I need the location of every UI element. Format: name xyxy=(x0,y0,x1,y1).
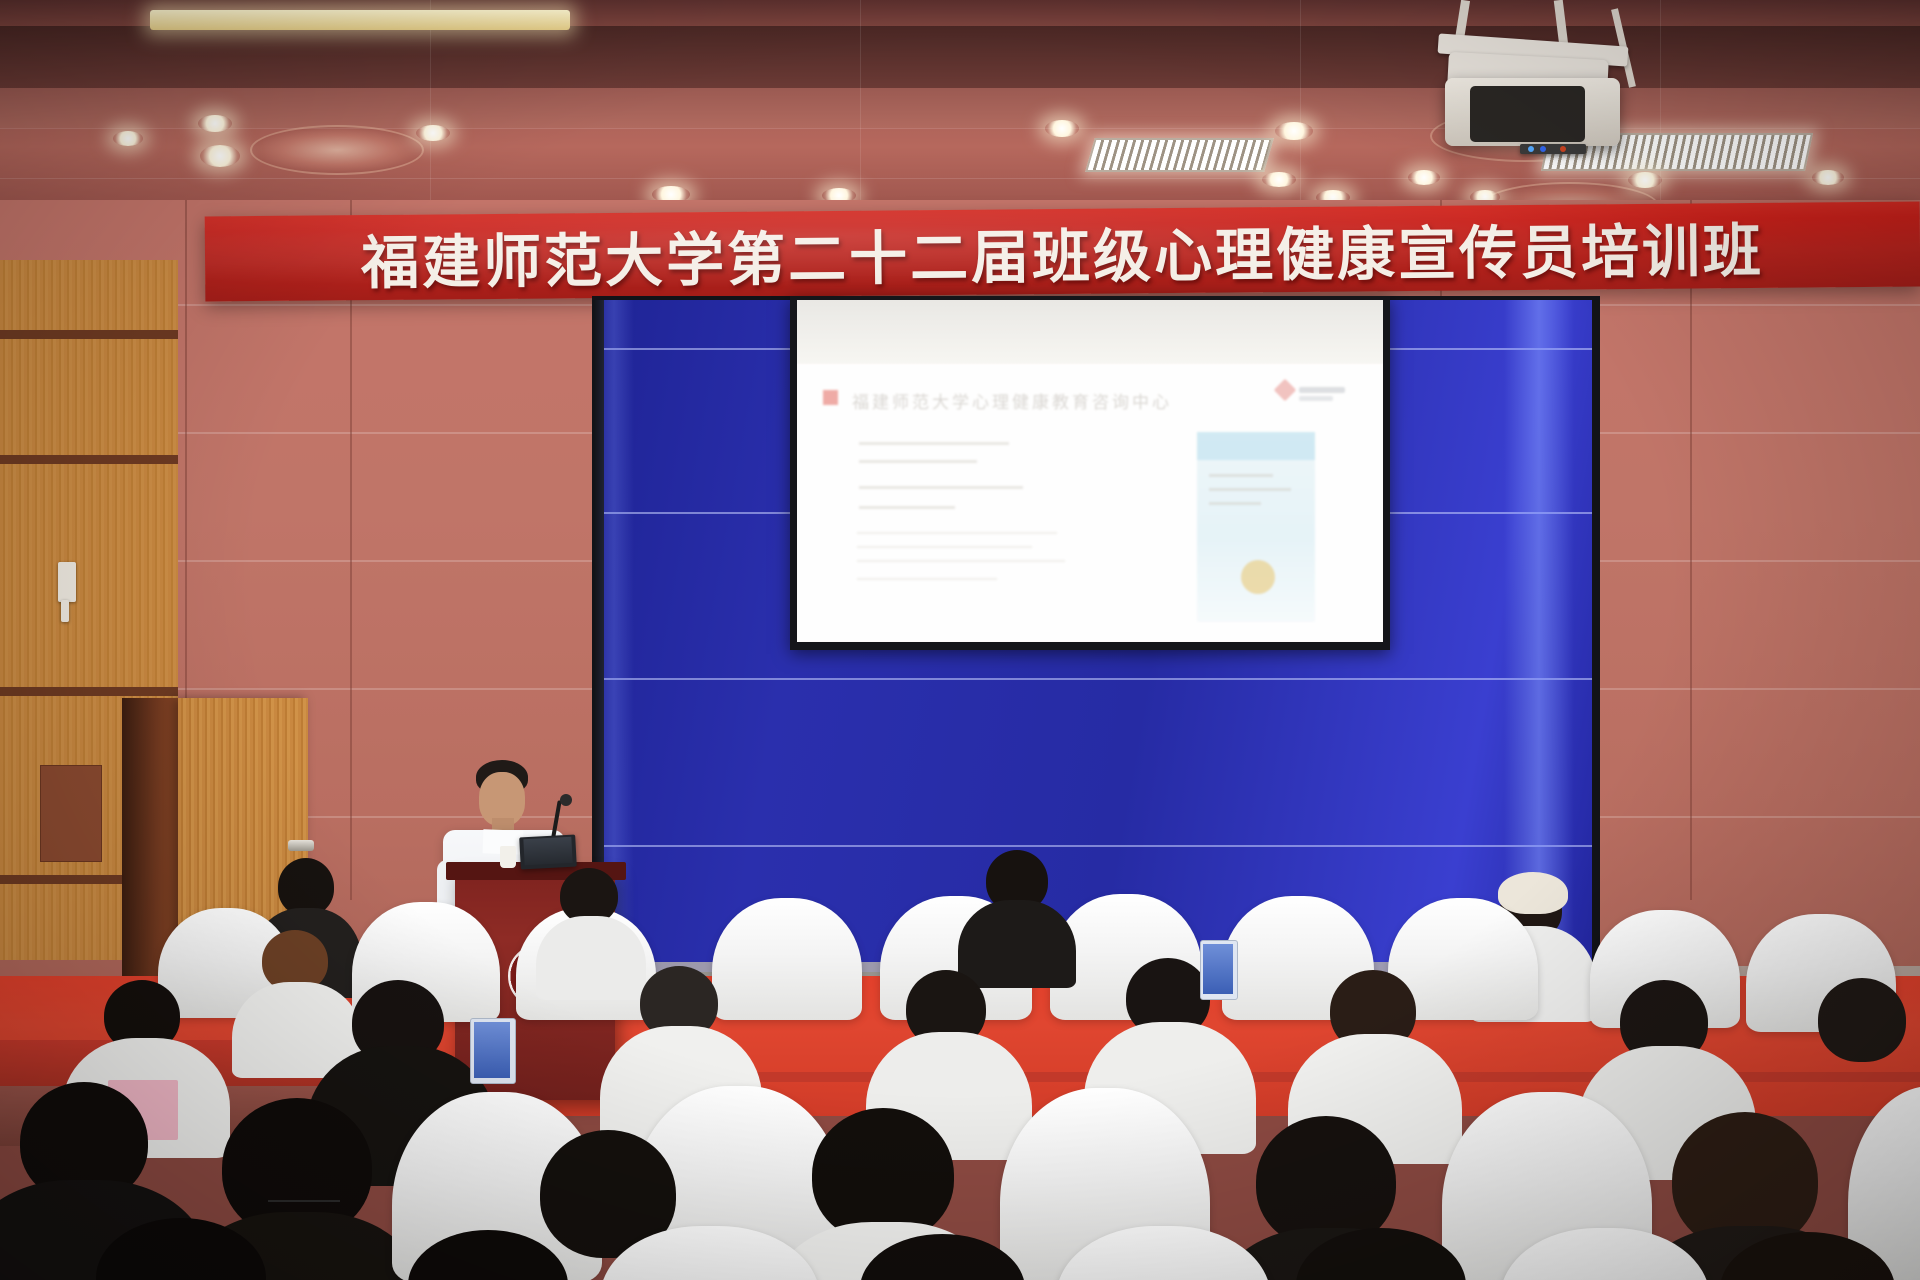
slide-title: 福建师范大学心理健康教育咨询中心 xyxy=(852,388,1172,413)
ceiling-downlight xyxy=(1262,172,1296,187)
chair-cover xyxy=(712,898,862,1020)
slide-text-line xyxy=(859,506,955,509)
ceiling-grid-light xyxy=(1085,138,1274,172)
slide-card-line xyxy=(1209,502,1261,505)
slide-logo-icon xyxy=(1277,378,1349,404)
ceiling xyxy=(0,0,1920,210)
ceiling-downlight xyxy=(113,131,143,146)
slide-text-line xyxy=(859,442,1009,445)
slide-card-line xyxy=(1209,488,1291,491)
ceiling-band-low xyxy=(0,88,1920,128)
projector-lens-block xyxy=(1470,86,1585,142)
ceiling-downlight xyxy=(1045,120,1079,137)
screen-top-bar xyxy=(797,300,1383,364)
slide-text-line xyxy=(859,486,1023,489)
ceiling-downlight xyxy=(1812,170,1844,185)
audience-shoulders xyxy=(958,900,1076,988)
wood-wall-trim xyxy=(0,330,178,339)
ceiling-ring-light xyxy=(250,125,424,175)
auditorium-photo: 福建师范大学第二十二届班级心理健康宣传员培训班 福建师范大学心理健康教育咨询中心 xyxy=(0,0,1920,1280)
audience-area xyxy=(0,830,1920,1280)
ceiling-downlight xyxy=(416,125,450,141)
smartphone-screen[interactable] xyxy=(1203,944,1233,994)
projector-power-led xyxy=(1528,146,1534,152)
wall-panel-seam-v xyxy=(1690,200,1692,900)
slide-text-line xyxy=(859,460,977,463)
audience-head xyxy=(1818,978,1906,1062)
smartphone-screen[interactable] xyxy=(474,1022,510,1078)
ceiling-seam-v xyxy=(860,0,861,200)
slide-text-line xyxy=(857,532,1057,534)
ceiling-seam-v xyxy=(1300,0,1301,200)
audience-cap xyxy=(1498,872,1568,914)
wall-device-handle[interactable] xyxy=(61,600,69,622)
ceiling-downlight xyxy=(1628,172,1662,188)
wall-panel-seam-v xyxy=(350,200,352,900)
slide-card-seal xyxy=(1241,560,1275,594)
banner-title: 福建师范大学第二十二届班级心理健康宣传员培训班 xyxy=(361,203,1765,299)
wood-wall-trim xyxy=(0,455,178,464)
slide-text-line xyxy=(857,560,1065,562)
event-banner: 福建师范大学第二十二届班级心理健康宣传员培训班 xyxy=(205,202,1920,302)
wood-wall-trim xyxy=(0,687,178,696)
microphone-head[interactable] xyxy=(560,794,572,806)
slide-card-header xyxy=(1197,432,1315,460)
eyeglasses xyxy=(268,1200,340,1207)
projector-lamp-led xyxy=(1560,146,1566,152)
ceiling-downlight xyxy=(1275,122,1313,140)
ceiling-strip-light xyxy=(150,10,570,30)
presentation-slide: 福建师范大学心理健康教育咨询中心 xyxy=(797,364,1383,642)
projection-screen: 福建师范大学心理健康教育咨询中心 xyxy=(797,300,1383,642)
slide-text-line xyxy=(857,546,1032,548)
ceiling-downlight xyxy=(198,115,232,132)
slide-text-line xyxy=(857,578,997,580)
led-panel-seam xyxy=(604,678,1592,680)
slide-bullet-icon xyxy=(823,390,838,405)
slide-card-line xyxy=(1209,474,1273,477)
audience-shoulders xyxy=(536,916,646,1000)
wall-mounted-device[interactable] xyxy=(58,562,76,602)
ceiling-seam-v xyxy=(430,0,431,200)
ceiling-downlight xyxy=(200,145,240,167)
ceiling-downlight xyxy=(1408,170,1440,185)
projector-status-led xyxy=(1540,146,1546,152)
